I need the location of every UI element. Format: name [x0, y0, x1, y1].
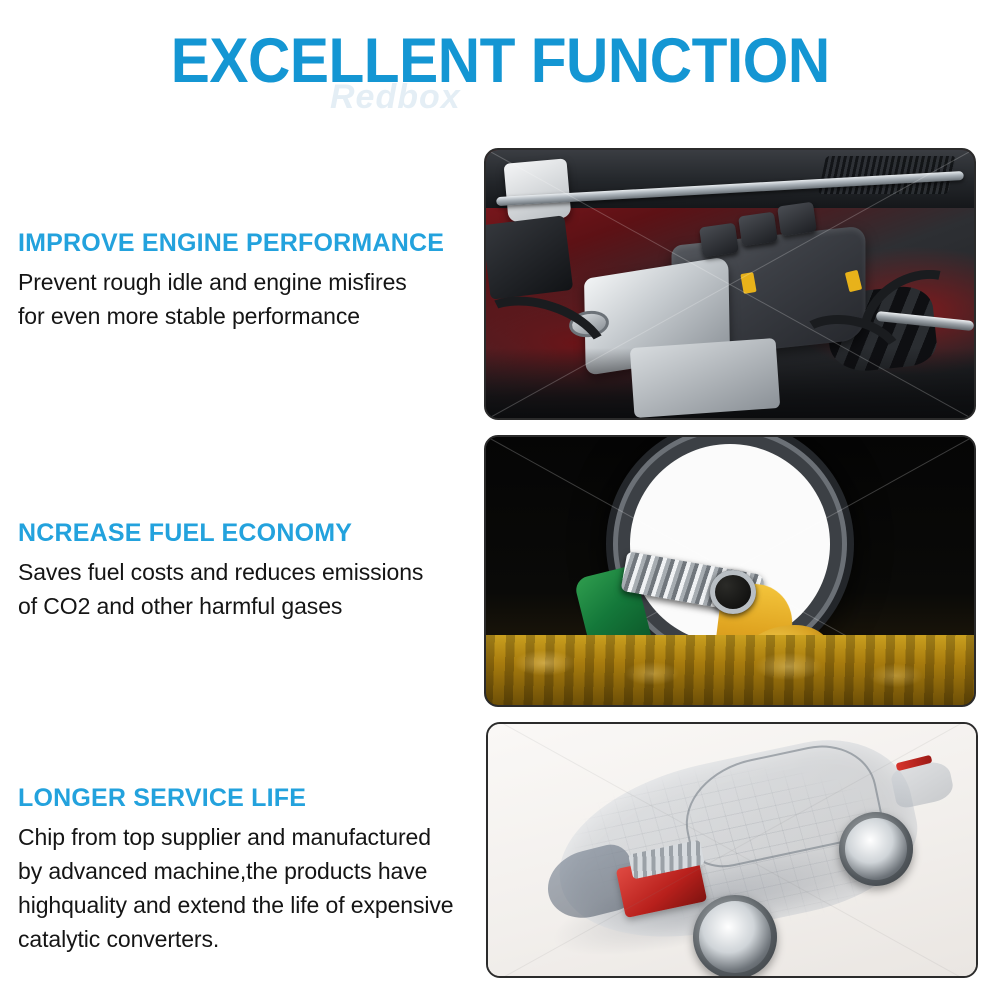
- ignition-coil: [777, 201, 817, 236]
- feature-block-longer-service-life: LONGER SERVICE LIFE Chip from top suppli…: [18, 783, 488, 956]
- page-title-wrapper: Redbox EXCELLENT FUNCTION: [0, 28, 1000, 94]
- fuel-nozzle-tip: [710, 570, 756, 614]
- infographic-page: Redbox EXCELLENT FUNCTION IMPROVE ENGINE…: [0, 0, 1000, 1000]
- fuel-pool: [486, 635, 974, 705]
- xray-car-photo: [486, 722, 978, 978]
- feature-body: Saves fuel costs and reduces emissions o…: [18, 555, 488, 623]
- page-title: EXCELLENT FUNCTION: [171, 28, 830, 94]
- feature-body-line: Chip from top supplier and manufactured: [18, 820, 488, 854]
- feature-body-line: by advanced machine,the products have: [18, 854, 488, 888]
- feature-heading: LONGER SERVICE LIFE: [18, 783, 488, 814]
- feature-body: Prevent rough idle and engine misfires f…: [18, 265, 488, 333]
- feature-heading: IMPROVE ENGINE PERFORMANCE: [18, 228, 488, 259]
- fluid-reservoir: [503, 158, 571, 222]
- feature-body-line: catalytic converters.: [18, 922, 488, 956]
- feature-body-line: of CO2 and other harmful gases: [18, 589, 488, 623]
- feature-block-improve-engine-performance: IMPROVE ENGINE PERFORMANCE Prevent rough…: [18, 228, 488, 333]
- feature-body-line: Saves fuel costs and reduces emissions: [18, 555, 488, 589]
- engine-control-box: [486, 215, 573, 300]
- feature-block-increase-fuel-economy: NCREASE FUEL ECONOMY Saves fuel costs an…: [18, 518, 488, 623]
- engine-bay-photo: [484, 148, 976, 420]
- feature-body-line: for even more stable performance: [18, 299, 488, 333]
- engine-block: [630, 338, 781, 418]
- ignition-coil: [699, 223, 739, 258]
- car-front-wheel: [693, 895, 777, 976]
- feature-heading: NCREASE FUEL ECONOMY: [18, 518, 488, 549]
- ignition-coil: [738, 212, 778, 247]
- feature-body-line: highquality and extend the life of expen…: [18, 888, 488, 922]
- feature-body: Chip from top supplier and manufactured …: [18, 820, 488, 956]
- feature-body-line: Prevent rough idle and engine misfires: [18, 265, 488, 299]
- fuel-nozzle-photo: Redbox Re: [484, 435, 976, 707]
